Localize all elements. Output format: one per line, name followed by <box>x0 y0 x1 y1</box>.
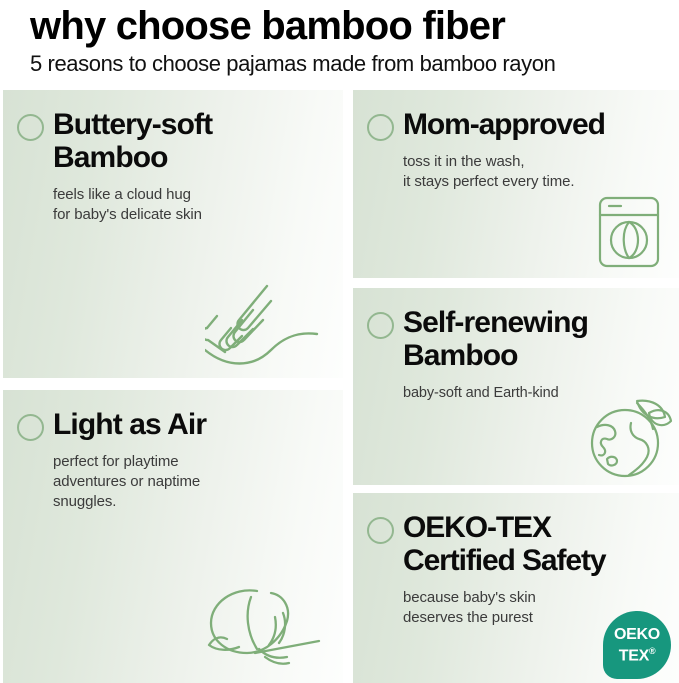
infographic-page: why choose bamboo fiber 5 reasons to cho… <box>0 0 679 683</box>
card-header: Self-renewing Bamboo <box>353 288 679 372</box>
card-header: OEKO-TEX Certified Safety <box>353 493 679 577</box>
bullet-ring-icon <box>17 414 44 441</box>
soft-hand-icon <box>205 276 321 372</box>
bullet-ring-icon <box>367 312 394 339</box>
oeko-tex-badge-icon: OEKO TEX® <box>603 611 671 679</box>
feather-icon <box>203 583 321 675</box>
header: why choose bamboo fiber 5 reasons to cho… <box>0 0 679 77</box>
card-header: Mom-approved <box>353 90 679 141</box>
benefits-grid: Buttery-soft Bamboo feels like a cloud h… <box>0 90 679 683</box>
registered-mark-icon: ® <box>649 646 655 656</box>
card-body-text: feels like a cloud hug for baby's delica… <box>3 174 343 225</box>
card-title: OEKO-TEX Certified Safety <box>403 511 605 577</box>
card-title: Light as Air <box>53 408 206 441</box>
card-body-text: toss it in the wash, it stays perfect ev… <box>353 141 679 192</box>
card-light-as-air[interactable]: Light as Air perfect for playtime advent… <box>3 390 343 683</box>
oeko-badge-text: TEX <box>619 647 649 664</box>
card-mom-approved[interactable]: Mom-approved toss it in the wash, it sta… <box>353 90 679 278</box>
card-title: Mom-approved <box>403 108 605 141</box>
card-title: Self-renewing Bamboo <box>403 306 588 372</box>
card-buttery-soft-bamboo[interactable]: Buttery-soft Bamboo feels like a cloud h… <box>3 90 343 378</box>
page-title: why choose bamboo fiber <box>0 0 679 48</box>
oeko-badge-line2: TEX® <box>619 643 656 664</box>
earth-leaf-icon <box>587 397 673 481</box>
card-self-renewing-bamboo[interactable]: Self-renewing Bamboo baby-soft and Earth… <box>353 288 679 485</box>
card-title: Buttery-soft Bamboo <box>53 108 212 174</box>
card-body-text: perfect for playtime adventures or napti… <box>3 441 343 512</box>
washing-machine-icon <box>595 194 665 272</box>
card-header: Light as Air <box>3 390 343 441</box>
oeko-badge-line1: OEKO <box>614 626 660 643</box>
bullet-ring-icon <box>367 114 394 141</box>
bullet-ring-icon <box>17 114 44 141</box>
page-subtitle: 5 reasons to choose pajamas made from ba… <box>0 48 679 77</box>
card-header: Buttery-soft Bamboo <box>3 90 343 174</box>
bullet-ring-icon <box>367 517 394 544</box>
card-oeko-tex-certified-safety[interactable]: OEKO-TEX Certified Safety because baby's… <box>353 493 679 683</box>
